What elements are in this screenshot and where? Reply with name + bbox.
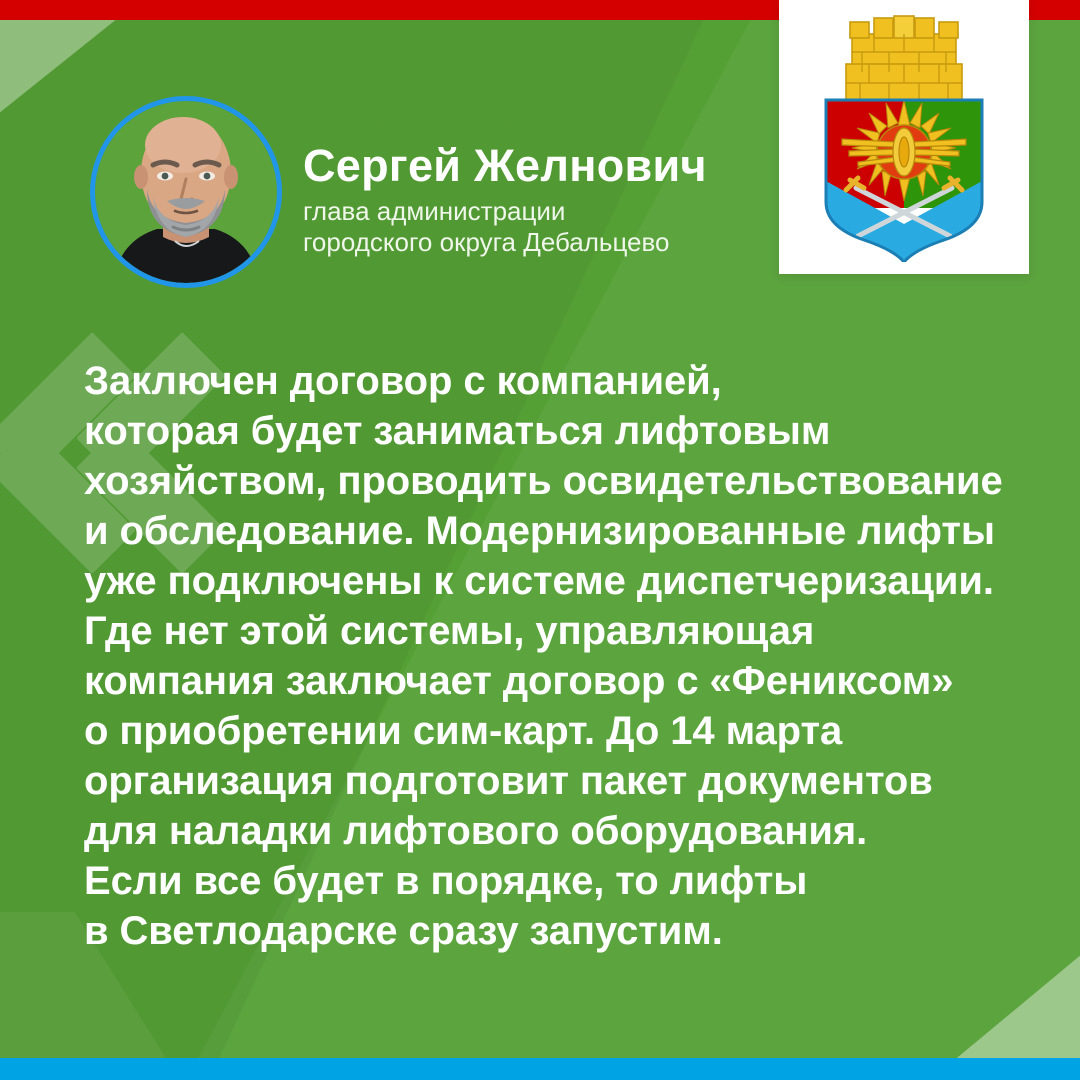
quote-line: хозяйством, проводить освидетельствовани… [84,456,1034,506]
quote-line: Заключен договор с компанией, [84,356,1034,406]
corner-triangle-bottom-right [952,954,1080,1062]
quote-line: которая будет заниматься лифтовым [84,406,1034,456]
quote-line: уже подключены к системе диспетчеризации… [84,556,1034,606]
coat-of-arms-panel [779,0,1029,274]
person-role-line-1: глава администрации [303,196,707,227]
quote-line: компания заключает договор с «Фениксом» [84,656,1034,706]
quote-body: Заключен договор с компанией, которая бу… [84,356,1034,956]
avatar-ring [90,96,282,288]
person-name: Сергей Желнович [303,140,707,192]
coat-of-arms-icon [794,12,1014,262]
quote-line: в Светлодарске сразу запустим. [84,906,1034,956]
bottom-accent-bar [0,1058,1080,1080]
quote-line: Где нет этой системы, управляющая [84,606,1034,656]
quote-line: и обследование. Модернизированные лифты [84,506,1034,556]
social-media-quote-card: Сергей Желнович глава администрации горо… [0,0,1080,1080]
person-role-line-2: городского округа Дебальцево [303,227,707,258]
avatar [90,96,282,288]
quote-line: организация подготовит пакет документов [84,756,1034,806]
quote-line: Если все будет в порядке, то лифты [84,856,1034,906]
quote-line: о приобретении сим-карт. До 14 марта [84,706,1034,756]
quote-line: для наладки лифтового оборудования. [84,806,1034,856]
speaker-identity: Сергей Желнович глава администрации горо… [303,140,707,258]
